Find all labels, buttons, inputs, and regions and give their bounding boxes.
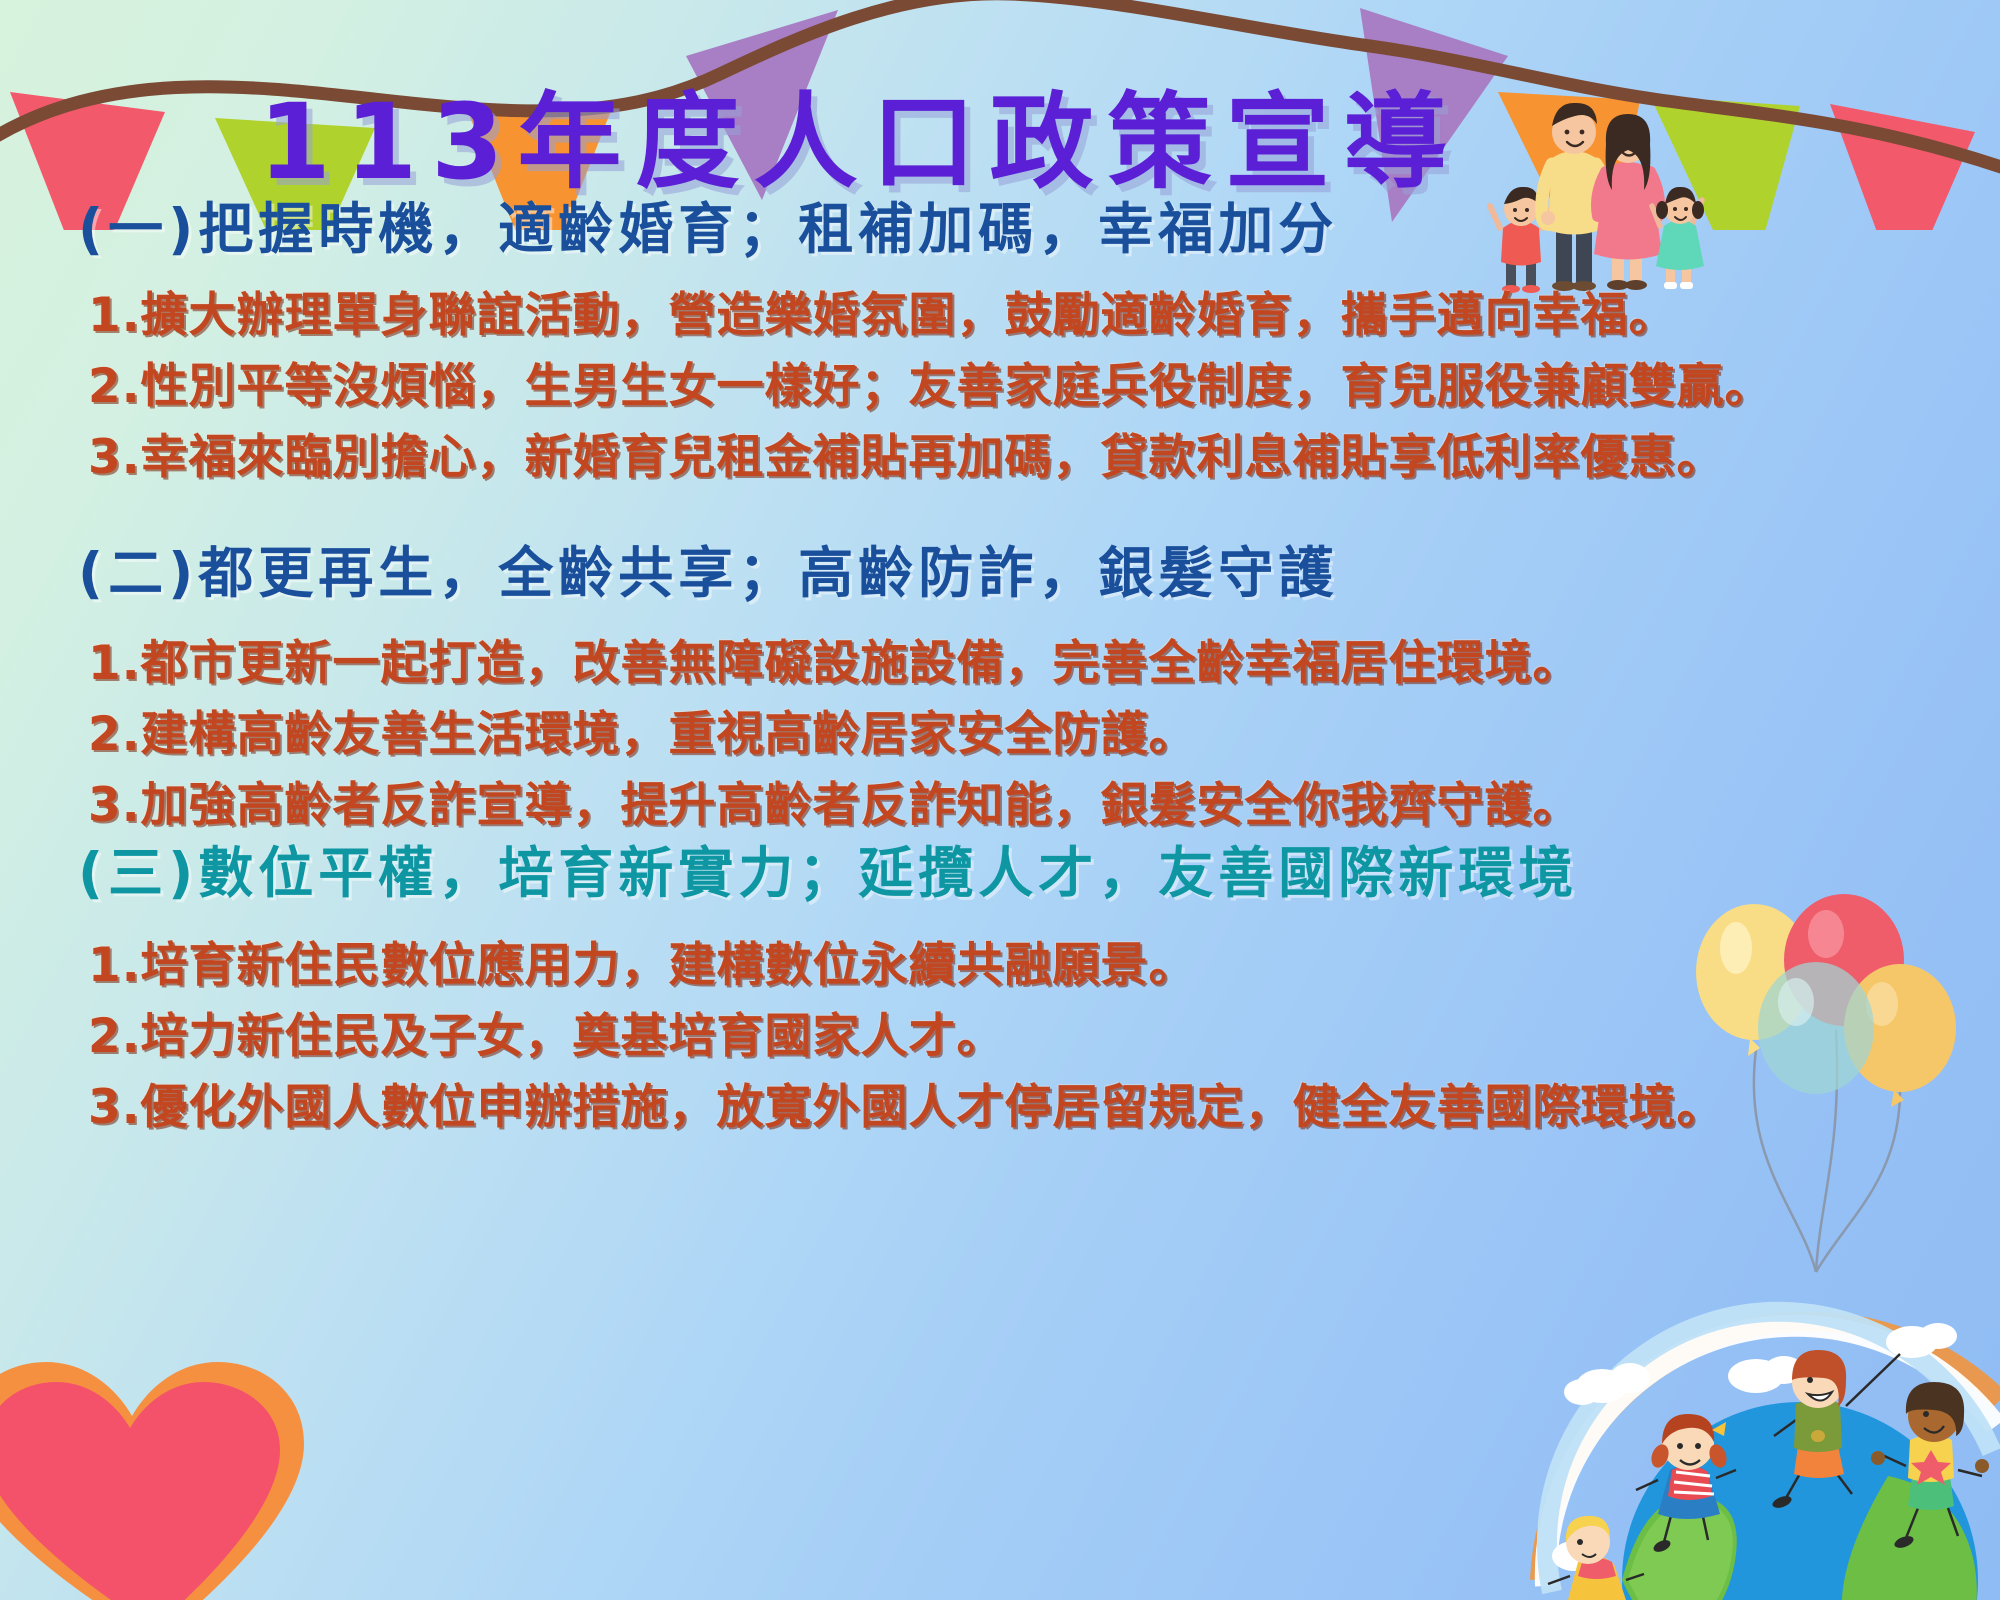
list-item: 3.優化外國人數位申辦措施，放寬外國人才停居留規定，健全友善國際環境。 — [88, 1076, 1942, 1141]
list-item: 2.建構高齡友善生活環境，重視高齡居家安全防護。 — [88, 703, 1942, 768]
section-one: (一)把握時機，適齡婚育；租補加碼，幸福加分 1.擴大辦理單身聯誼活動，營造樂婚… — [0, 196, 2000, 497]
list-item: 2.性別平等沒煩惱，生男生女一樣好；友善家庭兵役制度，育兒服役兼顧雙贏。 — [88, 355, 1942, 420]
list-item: 3.加強高齡者反詐宣導，提升高齡者反詐知能，銀髮安全你我齊守護。 — [88, 774, 1942, 839]
section-one-items: 1.擴大辦理單身聯誼活動，營造樂婚氛圍，鼓勵適齡婚育，攜手邁向幸福。 2.性別平… — [0, 284, 2000, 491]
section-two-items: 1.都市更新一起打造，改善無障礙設施設備，完善全齡幸福居住環境。 2.建構高齡友… — [0, 632, 2000, 839]
poster-content: 113年度人口政策宣導 (一)把握時機，適齡婚育；租補加碼，幸福加分 1.擴大辦… — [0, 0, 2000, 1600]
section-two: (二)都更再生，全齡共享；高齡防詐，銀髮守護 1.都市更新一起打造，改善無障礙設… — [0, 540, 2000, 845]
page-title: 113年度人口政策宣導 — [0, 88, 1720, 197]
list-item: 2.培力新住民及子女，奠基培育國家人才。 — [88, 1005, 1942, 1070]
poster-canvas: 113年度人口政策宣導 (一)把握時機，適齡婚育；租補加碼，幸福加分 1.擴大辦… — [0, 0, 2000, 1600]
section-three-items: 1.培育新住民數位應用力，建構數位永續共融願景。 2.培力新住民及子女，奠基培育… — [0, 934, 2000, 1141]
list-item: 3.幸福來臨別擔心，新婚育兒租金補貼再加碼，貸款利息補貼享低利率優惠。 — [88, 426, 1942, 491]
section-three: (三)數位平權，培育新實力；延攬人才，友善國際新環境 1.培育新住民數位應用力，… — [0, 840, 2000, 1147]
list-item: 1.培育新住民數位應用力，建構數位永續共融願景。 — [88, 934, 1942, 999]
list-item: 1.擴大辦理單身聯誼活動，營造樂婚氛圍，鼓勵適齡婚育，攜手邁向幸福。 — [88, 284, 1942, 349]
list-item: 1.都市更新一起打造，改善無障礙設施設備，完善全齡幸福居住環境。 — [88, 632, 1942, 697]
section-three-heading: (三)數位平權，培育新實力；延攬人才，友善國際新環境 — [0, 840, 2000, 906]
section-two-heading: (二)都更再生，全齡共享；高齡防詐，銀髮守護 — [0, 540, 2000, 606]
section-one-heading: (一)把握時機，適齡婚育；租補加碼，幸福加分 — [0, 196, 2000, 262]
